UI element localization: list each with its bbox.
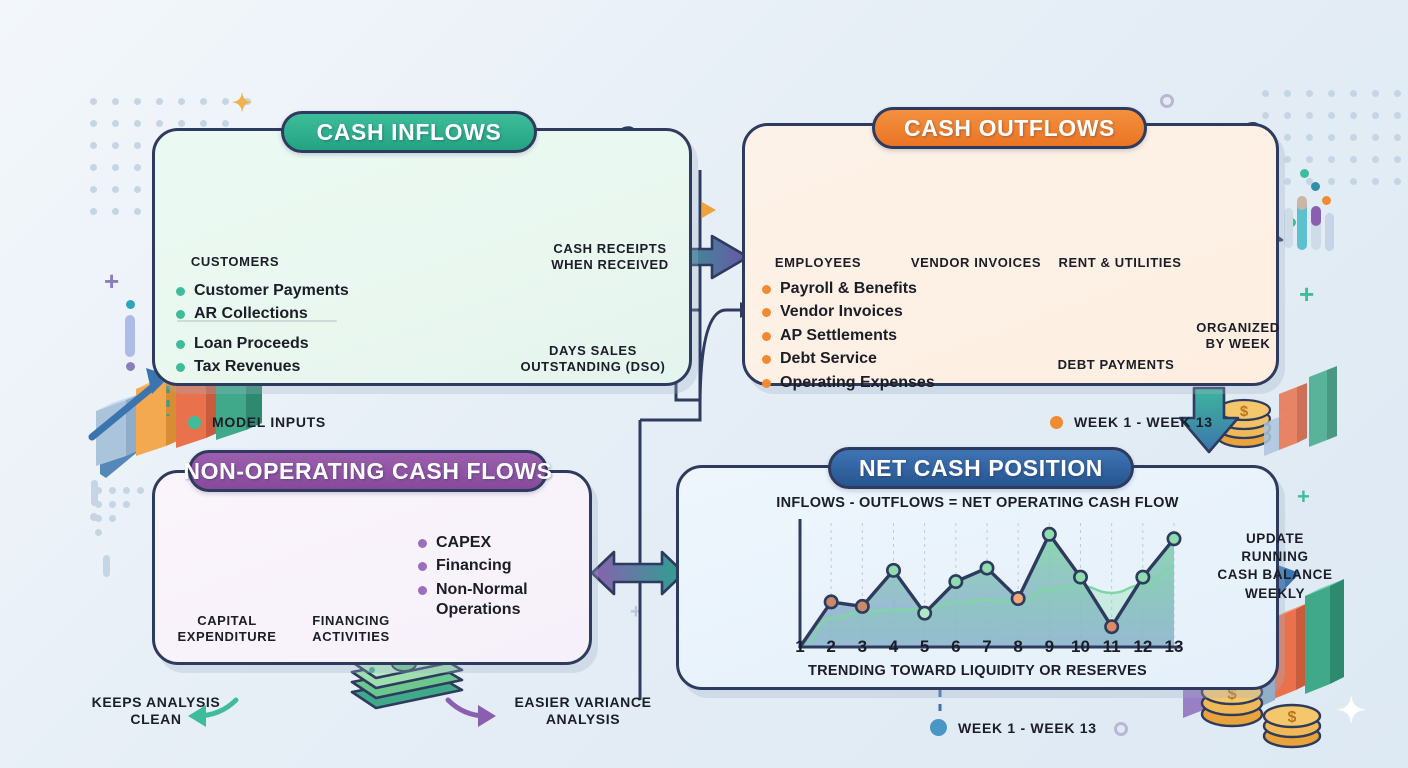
chip-non-operating[interactable]: NON-OPERATING CASH FLOWS: [188, 450, 548, 492]
bullet-item: CAPEX: [418, 533, 528, 553]
caption-debt-payments: DEBT PAYMENTS: [1046, 357, 1186, 373]
decor-pill-4: [103, 555, 110, 577]
decor-pill-3: [91, 480, 98, 506]
bullet-label: Debt Service: [780, 349, 877, 369]
bullet-label: Loan Proceeds: [194, 334, 309, 354]
chart-x-label: 11: [1103, 637, 1121, 657]
bullet-label: CAPEX: [436, 533, 491, 553]
connector-arrow-bidirectional: [592, 552, 684, 594]
bullet-label: Tax Revenues: [194, 357, 300, 377]
bullet-item: Debt Service: [762, 349, 935, 369]
decor-pill-r1: [1284, 208, 1293, 248]
chart-x-label: 3: [858, 637, 867, 657]
bullet-label: Payroll & Benefits: [780, 279, 917, 299]
bullet-dot: [762, 285, 771, 294]
chart-x-axis-labels: 12345678910111213: [786, 637, 1196, 657]
decor-dot-teal: [126, 300, 135, 309]
bullet-item: Payroll & Benefits: [762, 279, 935, 299]
annotation-variance: EASIER VARIANCEANALYSIS: [498, 694, 668, 728]
decor-pill-r3b: [1311, 206, 1321, 226]
annotation-keeps-clean: KEEPS ANALYSISCLEAN: [76, 694, 236, 728]
bullet-dot: [762, 308, 771, 317]
caption-vendor-invoices: VENDOR INVOICES: [908, 255, 1044, 271]
bullet-dot: [418, 562, 427, 571]
model-inputs-label: MODEL INPUTS: [212, 414, 326, 430]
decor-plus-right-2: +: [1297, 486, 1310, 508]
chart-x-label: 5: [920, 637, 929, 657]
decor-dot-green-r: [1300, 169, 1309, 178]
caption-financing-activities: FINANCINGACTIVITIES: [292, 613, 410, 645]
decor-pill-r4: [1325, 213, 1334, 251]
decor-plus-left: +: [104, 268, 119, 294]
decor-pill-r2b: [1297, 196, 1307, 210]
chip-cash-outflows-label: CASH OUTFLOWS: [904, 115, 1115, 142]
decor-ring-bottom: [1114, 722, 1128, 736]
bullet-label: Financing: [436, 556, 512, 576]
trend-note-label: TRENDING TOWARD LIQUIDITY OR RESERVES: [676, 663, 1279, 679]
week-range-top-dot: [1050, 416, 1063, 429]
bullet-item: AP Settlements: [762, 326, 935, 346]
bullet-dot: [762, 332, 771, 341]
chart-x-label: 7: [982, 637, 991, 657]
chip-net-cash-position-label: NET CASH POSITION: [859, 455, 1103, 482]
decor-plus-center: +: [630, 602, 642, 622]
bullet-item: Operating Expenses: [762, 373, 935, 393]
bullet-list-nonop: CAPEXFinancingNon-NormalOperations: [418, 533, 528, 624]
bullet-list-outflows: Payroll & BenefitsVendor InvoicesAP Sett…: [762, 279, 935, 396]
decor-ring-top: [1160, 94, 1174, 108]
caption-capital-expenditure: CAPITALEXPENDITURE: [168, 613, 286, 645]
bullet-label: AP Settlements: [780, 326, 897, 346]
bullet-item: Vendor Invoices: [762, 302, 935, 322]
bullet-item: Financing: [418, 556, 528, 576]
bullet-label: Customer Payments: [194, 281, 349, 301]
bullet-label: Non-NormalOperations: [436, 580, 528, 621]
annotation-arrow-variance: [448, 700, 496, 727]
chart-x-label: 13: [1165, 637, 1184, 657]
decor-dot-gray: [90, 513, 98, 521]
bullet-label: Vendor Invoices: [780, 302, 903, 322]
bullet-dot: [176, 310, 185, 319]
caption-organized-by-week: ORGANIZEDBY WEEK: [1178, 320, 1298, 352]
chart-x-label: 10: [1071, 637, 1090, 657]
chart-x-label: 1: [795, 637, 804, 657]
caption-customers: CUSTOMERS: [175, 254, 295, 270]
model-inputs-dot: [188, 416, 201, 429]
bullet-item: Customer Payments: [176, 281, 349, 301]
bullet-dot: [418, 586, 427, 595]
bullet-label: Operating Expenses: [780, 373, 935, 393]
decor-coin-stack-right: $ $: [1202, 680, 1320, 747]
annotation-model-inputs: MODEL INPUTS: [188, 414, 326, 430]
bullet-dot: [176, 340, 185, 349]
bullet-list-inflows-secondary: Loan ProceedsTax Revenues: [176, 334, 309, 381]
decor-pill-1: [125, 315, 135, 357]
equation-label: INFLOWS - OUTFLOWS = NET OPERATING CASH …: [676, 495, 1279, 511]
chip-net-cash-position[interactable]: NET CASH POSITION: [828, 447, 1134, 489]
chip-cash-inflows[interactable]: CASH INFLOWS: [281, 111, 537, 153]
chart-x-label: 8: [1013, 637, 1022, 657]
decor-triangle-orange: [702, 202, 716, 218]
caption-employees: EMPLOYEES: [758, 255, 878, 271]
caption-cash-receipts: CASH RECEIPTSWHEN RECEIVED: [520, 241, 700, 273]
caption-rent-utilities: RENT & UTILITIES: [1052, 255, 1188, 271]
chart-x-label: 12: [1133, 637, 1152, 657]
bullet-dot: [762, 355, 771, 364]
chart-x-label: 4: [889, 637, 898, 657]
svg-text:$: $: [1240, 403, 1249, 420]
decor-sparkle-bottom: ✦: [1337, 694, 1366, 728]
decor-dot-purple: [126, 362, 135, 371]
decor-sparkle-top: ✦: [232, 92, 252, 116]
decor-dot-orange-r: [1322, 196, 1331, 205]
svg-text:$: $: [1288, 709, 1297, 726]
decor-3d-bars-topright: [1264, 366, 1337, 456]
bullet-dot: [762, 379, 771, 388]
chart-x-label: 9: [1045, 637, 1054, 657]
chip-cash-outflows[interactable]: CASH OUTFLOWS: [872, 107, 1147, 149]
bullet-dot: [176, 287, 185, 296]
chart-x-label: 6: [951, 637, 960, 657]
bullet-item: Non-NormalOperations: [418, 580, 528, 621]
decor-dot-blue-r: [1311, 182, 1320, 191]
infographic-canvas: + + + + ✦ ✦: [0, 0, 1408, 768]
chip-cash-inflows-label: CASH INFLOWS: [317, 119, 502, 146]
week-range-bottom-label: WEEK 1 - WEEK 13: [958, 720, 1097, 736]
bullet-dot: [176, 363, 185, 372]
chip-non-operating-label: NON-OPERATING CASH FLOWS: [183, 458, 552, 485]
week-range-bottom-dot: [930, 719, 947, 736]
annotation-week-range-bottom: WEEK 1 - WEEK 13: [930, 719, 1097, 736]
week-range-top-label: WEEK 1 - WEEK 13: [1074, 414, 1213, 430]
bullet-item: Loan Proceeds: [176, 334, 309, 354]
chart-x-label: 2: [826, 637, 835, 657]
decor-plus-right: +: [1299, 281, 1314, 307]
bullet-dot: [418, 539, 427, 548]
annotation-update-balance: UPDATERUNNINGCASH BALANCEWEEKLY: [1214, 530, 1336, 603]
bullet-item: Tax Revenues: [176, 357, 309, 377]
divider-inflows: [177, 320, 337, 322]
caption-dso: DAYS SALESOUTSTANDING (DSO): [498, 343, 688, 375]
decor-coin-stack-top: $: [1218, 400, 1270, 447]
annotation-week-range-top: WEEK 1 - WEEK 13: [1050, 414, 1213, 430]
